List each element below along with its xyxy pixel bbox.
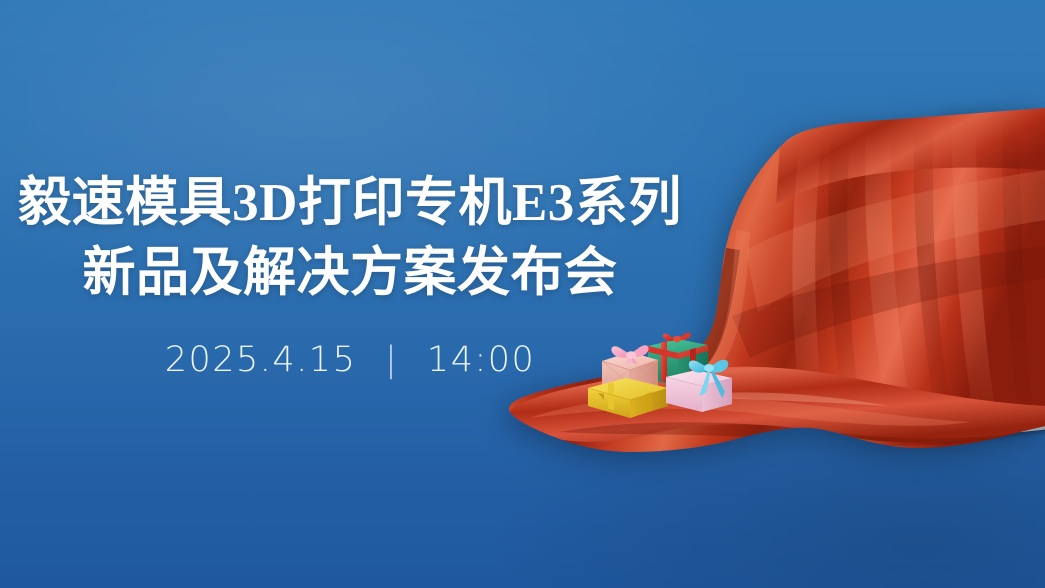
headline-line-2: 新品及解决方案发布会 <box>0 238 700 308</box>
event-date: 2025.4.15 <box>165 340 357 380</box>
event-time: 14:00 <box>427 340 535 380</box>
datetime-separator: | <box>385 340 398 380</box>
headline-line-1: 毅速模具3D打印专机E3系列 <box>0 168 700 238</box>
event-datetime: 2025.4.15 | 14:00 <box>0 340 700 380</box>
poster-headline: 毅速模具3D打印专机E3系列 新品及解决方案发布会 <box>0 168 700 308</box>
event-poster: 毅速模具3D打印专机E3系列 新品及解决方案发布会 2025.4.15 | 14… <box>0 0 1045 588</box>
